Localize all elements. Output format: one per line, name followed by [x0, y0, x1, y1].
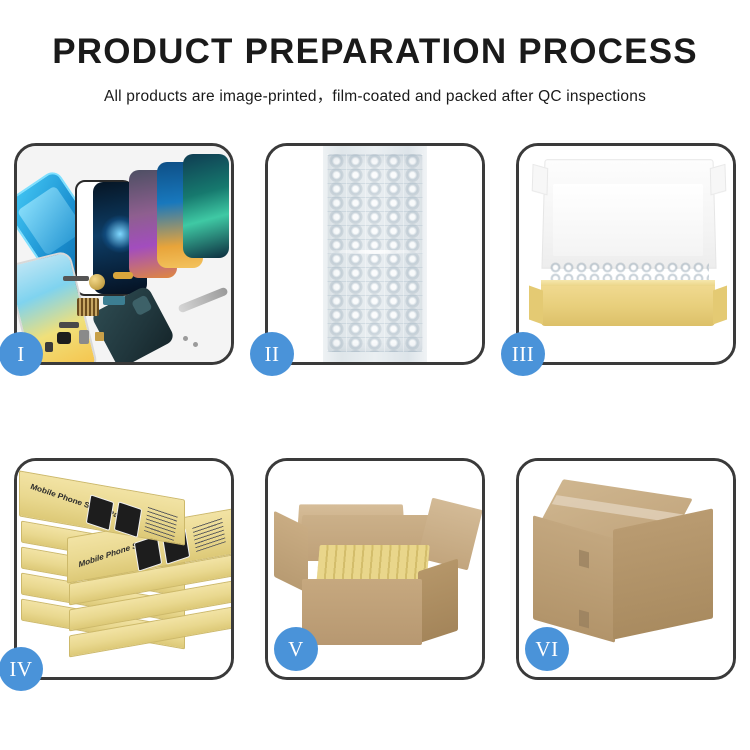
process-step-2: II — [265, 143, 485, 365]
step-4-image: Mobile Phone Spare Parts Mobile Phone Sp… — [17, 461, 231, 677]
inner-box-front-graphic — [541, 286, 715, 326]
carton-seam-graphic-2 — [579, 610, 589, 629]
page-title: PRODUCT PREPARATION PROCESS — [0, 34, 750, 69]
box-stack-graphic: Mobile Phone Spare Parts Mobile Phone Sp… — [17, 461, 231, 677]
step-badge-1: I — [0, 332, 43, 376]
screw-part-2 — [193, 342, 198, 347]
chip-part — [95, 332, 104, 341]
button-part — [45, 342, 53, 352]
process-step-6: VI — [516, 458, 736, 680]
step-badge-3: III — [501, 332, 545, 376]
sealed-carton-right-face-graphic — [613, 508, 713, 639]
taptic-motor-part — [89, 274, 105, 290]
speaker-part — [79, 330, 89, 344]
flex-cable-part-2 — [103, 296, 125, 305]
step-1-image — [17, 146, 231, 362]
step-3-image — [519, 146, 733, 362]
box-spec-lines-front — [192, 517, 226, 552]
carton-front-wall-graphic — [302, 579, 422, 645]
step-2-image — [268, 146, 482, 362]
repair-tool-part — [177, 287, 228, 314]
step-badge-2: II — [250, 332, 294, 376]
connector-bar-part — [63, 276, 89, 281]
step-badge-6: VI — [525, 627, 569, 671]
carton-seam-graphic-1 — [579, 550, 589, 569]
process-step-5: V — [265, 458, 485, 680]
camera-module-part — [57, 332, 71, 344]
bubble-wrap-seam-graphic — [327, 250, 423, 254]
process-step-4: Mobile Phone Spare Parts Mobile Phone Sp… — [14, 458, 234, 680]
box-phone-graphic-back-1 — [86, 494, 114, 531]
phone-screen-teal-graphic — [183, 154, 229, 258]
process-step-1: I — [14, 143, 234, 365]
foam-liner-graphic — [553, 184, 703, 256]
box-spec-lines-back — [144, 506, 178, 541]
page-subtitle: All products are image-printed，film-coat… — [0, 84, 750, 106]
step-badge-4: IV — [0, 647, 43, 691]
process-step-grid: I II III — [14, 143, 736, 680]
step-badge-5: V — [274, 627, 318, 671]
screw-part-1 — [183, 336, 188, 341]
page-header: PRODUCT PREPARATION PROCESS All products… — [0, 0, 750, 106]
sealed-carton-left-face-graphic — [533, 515, 615, 643]
flex-cable-part-1 — [113, 272, 133, 279]
process-step-3: III — [516, 143, 736, 365]
flex-cable-part-3 — [59, 322, 79, 328]
box-phone-graphic-back-2 — [114, 501, 142, 538]
chip-grid-part — [77, 298, 99, 316]
carton-side-wall-graphic — [418, 559, 458, 644]
